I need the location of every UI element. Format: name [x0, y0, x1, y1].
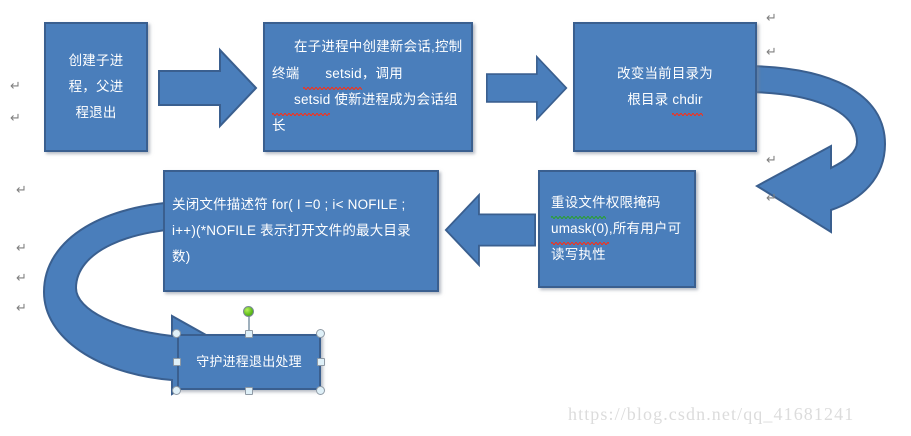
flow-step-5-box[interactable]: 关闭文件描述符 for( I =0 ; i< NOFILE ; i++)(*NO…: [163, 170, 439, 292]
spellcheck-setsid-1: setsid: [303, 61, 361, 87]
selection-handle-ne[interactable]: [316, 329, 325, 338]
flow-step-4-box[interactable]: 重设文件权限掩码umask(0),所有用户可读写执性: [538, 170, 696, 288]
flow-step-1-box[interactable]: 创建子进 程，父进 程退出: [44, 22, 148, 152]
selection-handle-n[interactable]: [245, 330, 253, 338]
selection-handle-e[interactable]: [317, 358, 325, 366]
source-watermark: https://blog.csdn.net/qq_41681241: [568, 404, 854, 425]
paragraph-mark-left-5: ↵: [16, 270, 27, 286]
selection-handle-nw[interactable]: [172, 329, 181, 338]
flow-step-1-label: 创建子进 程，父进 程退出: [46, 48, 146, 127]
flow-step-2-box[interactable]: 在子进程中创建新会话,控制终端 setsid，调用 setsid 使新进程成为会…: [263, 22, 473, 152]
connector-arrow-4[interactable]: [444, 190, 536, 270]
rotate-handle-icon[interactable]: [243, 306, 254, 317]
document-canvas: 创建子进 程，父进 程退出 在子进程中创建新会话,控制终端 setsid，调用 …: [0, 0, 911, 436]
spellcheck-umask: umask(0): [551, 216, 609, 242]
selection-handle-se[interactable]: [316, 386, 325, 395]
connector-arrow-2[interactable]: [486, 47, 568, 129]
flow-step-6-box[interactable]: 守护进程退出处理: [177, 334, 321, 390]
connector-arrow-3-curved[interactable]: [735, 60, 911, 240]
flow-step-3-label: 改变当前目录为根目录 chdir: [575, 61, 755, 114]
paragraph-mark-left-2: ↵: [10, 110, 21, 126]
paragraph-mark-left-6: ↵: [16, 300, 27, 316]
paragraph-mark-right-3: ↵: [766, 152, 777, 168]
paragraph-mark-left-3: ↵: [16, 182, 27, 198]
connector-arrow-1[interactable]: [158, 47, 258, 129]
selection-handle-s[interactable]: [245, 387, 253, 395]
flow-step-3-box[interactable]: 改变当前目录为根目录 chdir: [573, 22, 757, 152]
selection-handle-sw[interactable]: [172, 386, 181, 395]
spellcheck-chdir: chdir: [672, 87, 702, 113]
spellcheck-setsid-2: setsid: [272, 87, 330, 113]
paragraph-mark-right-2: ↵: [766, 44, 777, 60]
flow-step-2-label: 在子进程中创建新会话,控制终端 setsid，调用 setsid 使新进程成为会…: [265, 34, 471, 139]
flow-step-6-label: 守护进程退出处理: [179, 349, 319, 374]
paragraph-mark-right-4: ↵: [766, 190, 777, 206]
grammar-chongshe-wenjian: 重设文件: [551, 190, 606, 216]
paragraph-mark-left-4: ↵: [16, 240, 27, 256]
paragraph-mark-left-1: ↵: [10, 78, 21, 94]
flow-step-4-label: 重设文件权限掩码umask(0),所有用户可读写执性: [540, 190, 694, 269]
flow-step-5-label: 关闭文件描述符 for( I =0 ; i< NOFILE ; i++)(*NO…: [165, 192, 437, 271]
selection-handle-w[interactable]: [173, 358, 181, 366]
paragraph-mark-right-1: ↵: [766, 10, 777, 26]
